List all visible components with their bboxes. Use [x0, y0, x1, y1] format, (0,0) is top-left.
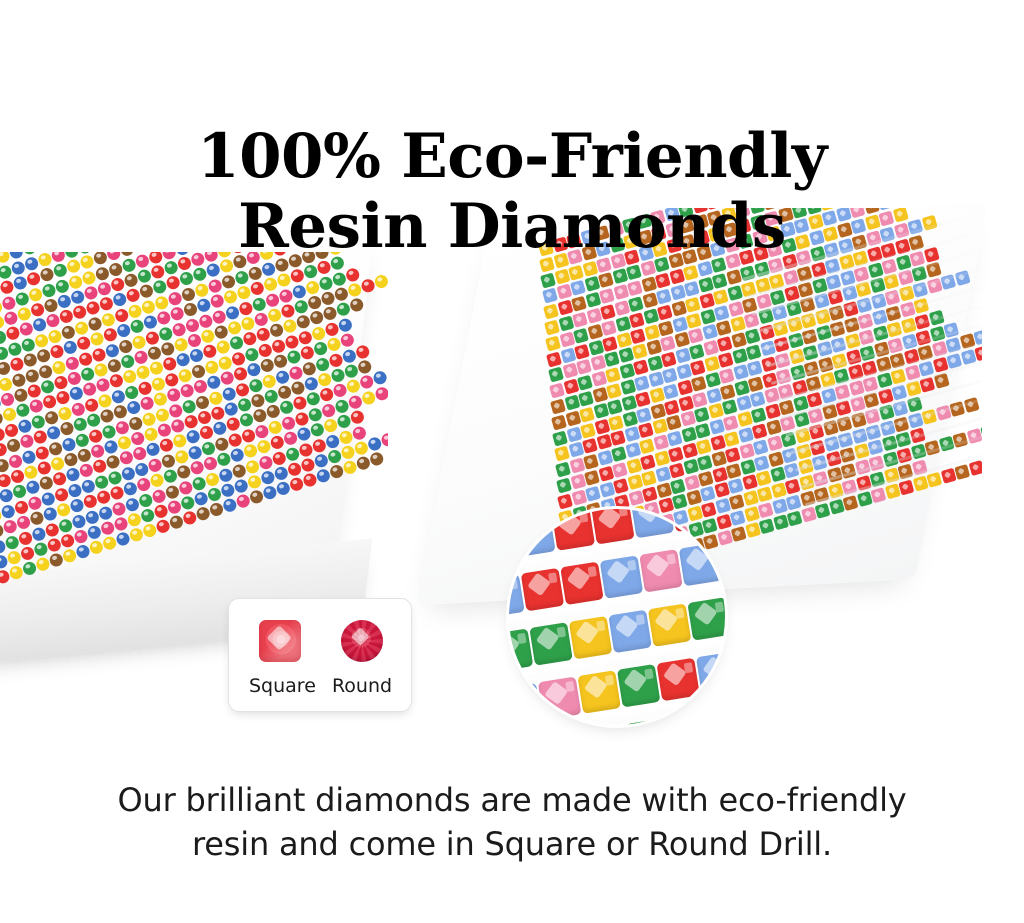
round-drill	[349, 409, 365, 425]
square-drill	[736, 411, 752, 427]
magnified-square-drill	[631, 509, 674, 538]
square-drill	[634, 375, 650, 391]
square-drill	[730, 510, 746, 526]
magnified-square-drill	[538, 677, 581, 720]
square-drill	[642, 486, 658, 502]
magnified-square-drill	[509, 683, 542, 725]
square-drill	[742, 490, 758, 506]
magnified-square-drill	[591, 509, 634, 545]
square-drill	[562, 363, 578, 379]
square-drill	[702, 340, 718, 356]
square-drill	[612, 462, 628, 478]
square-drill	[755, 471, 771, 487]
square-drill	[613, 478, 629, 494]
square-drill	[749, 392, 765, 408]
page-title: 100% Eco-Friendly Resin Diamonds	[0, 52, 1024, 332]
square-drill	[653, 435, 669, 451]
square-drill	[707, 403, 723, 419]
square-drill	[732, 348, 748, 364]
square-drill	[685, 490, 701, 506]
square-drill	[698, 470, 714, 486]
headline-line-2: Resin Diamonds	[0, 192, 1024, 262]
square-drill	[754, 455, 770, 471]
square-drill	[725, 447, 741, 463]
square-drill	[726, 463, 742, 479]
square-drill	[748, 376, 764, 392]
magnified-square-drill	[512, 514, 555, 557]
square-drill	[731, 526, 747, 542]
round-gem-icon	[341, 620, 383, 662]
magnified-square-drill	[696, 651, 725, 694]
square-drill	[752, 423, 768, 439]
square-drill	[697, 455, 713, 471]
legend-label-square: Square	[249, 675, 311, 697]
magnified-square-drill	[679, 543, 722, 586]
round-drill	[372, 370, 388, 386]
magnified-square-drill	[600, 555, 643, 598]
square-drill	[721, 399, 737, 415]
square-drill	[606, 383, 622, 399]
square-drill	[720, 384, 736, 400]
square-drill	[614, 494, 630, 510]
drill-shape-legend[interactable]: Square Round	[228, 598, 412, 712]
magnified-square-drill	[529, 622, 572, 665]
square-drill	[744, 506, 760, 522]
square-drill	[549, 383, 565, 399]
square-drill	[670, 478, 686, 494]
square-drill	[583, 454, 599, 470]
square-drill	[557, 493, 573, 509]
square-drill	[718, 352, 734, 368]
square-drill	[663, 383, 679, 399]
square-drill	[746, 344, 762, 360]
magnified-square-drill	[552, 509, 595, 551]
square-drill	[582, 438, 598, 454]
square-drill	[661, 352, 677, 368]
square-drill	[693, 407, 709, 423]
square-drill	[625, 442, 641, 458]
square-drill	[681, 427, 697, 443]
square-drill	[548, 367, 564, 383]
square-drill	[550, 399, 566, 415]
square-drill	[596, 434, 612, 450]
magnified-square-drill	[656, 658, 699, 701]
magnified-square-drill	[577, 670, 620, 713]
square-drill	[696, 439, 712, 455]
square-drill	[607, 399, 623, 415]
square-drill	[675, 348, 691, 364]
magnified-drill-closeup	[509, 509, 725, 725]
square-drill	[609, 430, 625, 446]
square-drill	[597, 450, 613, 466]
square-drill	[563, 379, 579, 395]
square-drill	[787, 510, 803, 526]
legend-label-round: Round	[331, 675, 393, 697]
square-drill	[546, 351, 562, 367]
square-drill	[676, 364, 692, 380]
square-drill	[574, 343, 590, 359]
square-drill	[555, 462, 571, 478]
square-drill	[772, 498, 788, 514]
square-drill	[662, 368, 678, 384]
square-drill	[635, 391, 651, 407]
square-drill	[671, 494, 687, 510]
magnified-square-drill	[608, 610, 651, 653]
square-drill	[770, 483, 786, 499]
square-drill	[551, 414, 567, 430]
magnified-square-drill	[670, 509, 713, 532]
square-drill	[695, 423, 711, 439]
square-drill	[667, 431, 683, 447]
square-drill	[735, 396, 751, 412]
headline-line-1: 100% Eco-Friendly	[197, 121, 827, 192]
square-drill	[727, 478, 743, 494]
square-drill	[786, 495, 802, 511]
magnified-drill-rows	[509, 509, 725, 725]
square-drill	[704, 356, 720, 372]
square-drill	[651, 419, 667, 435]
square-drill	[664, 399, 680, 415]
tray-channel	[805, 439, 982, 506]
square-drill	[564, 395, 580, 411]
square-drill	[692, 391, 708, 407]
square-drill	[722, 415, 738, 431]
square-drill	[633, 359, 649, 375]
square-drill	[578, 391, 594, 407]
round-drill	[369, 451, 385, 467]
square-drill	[716, 336, 732, 352]
square-drill	[645, 340, 661, 356]
square-drill	[639, 438, 655, 454]
square-drill	[603, 351, 619, 367]
round-drill	[339, 332, 355, 348]
square-drill	[710, 435, 726, 451]
square-drill	[576, 359, 592, 375]
square-drill	[619, 363, 635, 379]
square-drill	[753, 439, 769, 455]
square-drill	[570, 474, 586, 490]
square-drill	[545, 335, 561, 351]
square-drill	[759, 518, 775, 534]
square-drill	[766, 419, 782, 435]
square-drill	[626, 458, 642, 474]
square-drill	[637, 423, 653, 439]
square-drill	[631, 344, 647, 360]
square-drill	[598, 466, 614, 482]
magnified-square-drill	[617, 664, 660, 707]
square-drill	[728, 494, 744, 510]
magnified-square-drill	[687, 597, 725, 640]
square-drill	[617, 348, 633, 364]
square-drill	[730, 332, 746, 348]
square-drill	[750, 407, 766, 423]
square-drill	[668, 447, 684, 463]
square-drill	[641, 470, 657, 486]
square-drill	[689, 344, 705, 360]
square-drill	[552, 430, 568, 446]
magnified-square-drill	[521, 568, 564, 611]
round-drill	[355, 343, 371, 359]
caption-line-2: resin and come in Square or Round Drill.	[0, 822, 1024, 866]
square-drill	[569, 458, 585, 474]
round-drill	[357, 359, 373, 375]
round-drill	[374, 385, 388, 401]
square-drill	[708, 419, 724, 435]
square-drill	[679, 411, 695, 427]
square-drill	[719, 368, 735, 384]
square-drill	[605, 367, 621, 383]
square-drill	[620, 379, 636, 395]
magnified-square-drill	[639, 549, 682, 592]
square-drill	[713, 482, 729, 498]
square-drill	[758, 502, 774, 518]
square-drill	[665, 415, 681, 431]
infographic-canvas: 100% Eco-Friendly Resin Diamonds Square …	[0, 0, 1024, 923]
square-drill	[584, 470, 600, 486]
square-drill	[756, 486, 772, 502]
square-drill	[769, 467, 785, 483]
square-drill	[699, 486, 715, 502]
square-drill	[585, 486, 601, 502]
square-drill	[591, 371, 607, 387]
square-drill	[747, 360, 763, 376]
square-drill	[648, 371, 664, 387]
square-drill	[579, 407, 595, 423]
square-drill	[592, 387, 608, 403]
square-drill	[623, 427, 639, 443]
square-drill	[741, 475, 757, 491]
magnified-square-drill	[560, 562, 603, 605]
square-drill	[602, 336, 618, 352]
caption-line-1: Our brilliant diamonds are made with eco…	[118, 781, 907, 819]
square-drill	[647, 356, 663, 372]
magnified-square-drill	[648, 603, 691, 646]
square-drill	[654, 450, 670, 466]
square-drill	[556, 478, 572, 494]
square-drill	[682, 443, 698, 459]
legend-gems	[229, 613, 413, 669]
round-drill	[351, 425, 367, 441]
legend-labels: Square Round	[229, 669, 413, 703]
magnified-square-drill	[569, 616, 612, 659]
square-drill	[611, 446, 627, 462]
square-drill	[568, 442, 584, 458]
square-drill	[673, 332, 689, 348]
square-drill	[659, 336, 675, 352]
square-drill	[636, 407, 652, 423]
square-drill	[554, 446, 570, 462]
square-drill	[724, 431, 740, 447]
square-drill	[690, 360, 706, 376]
page-caption: Our brilliant diamonds are made with eco…	[0, 778, 1024, 866]
square-drill	[590, 355, 606, 371]
square-drill	[640, 454, 656, 470]
square-drill	[580, 422, 596, 438]
square-drill	[608, 415, 624, 431]
square-gem-icon	[259, 620, 301, 662]
square-drill	[577, 375, 593, 391]
square-drill	[691, 376, 707, 392]
square-drill	[669, 462, 685, 478]
square-drill	[738, 427, 754, 443]
